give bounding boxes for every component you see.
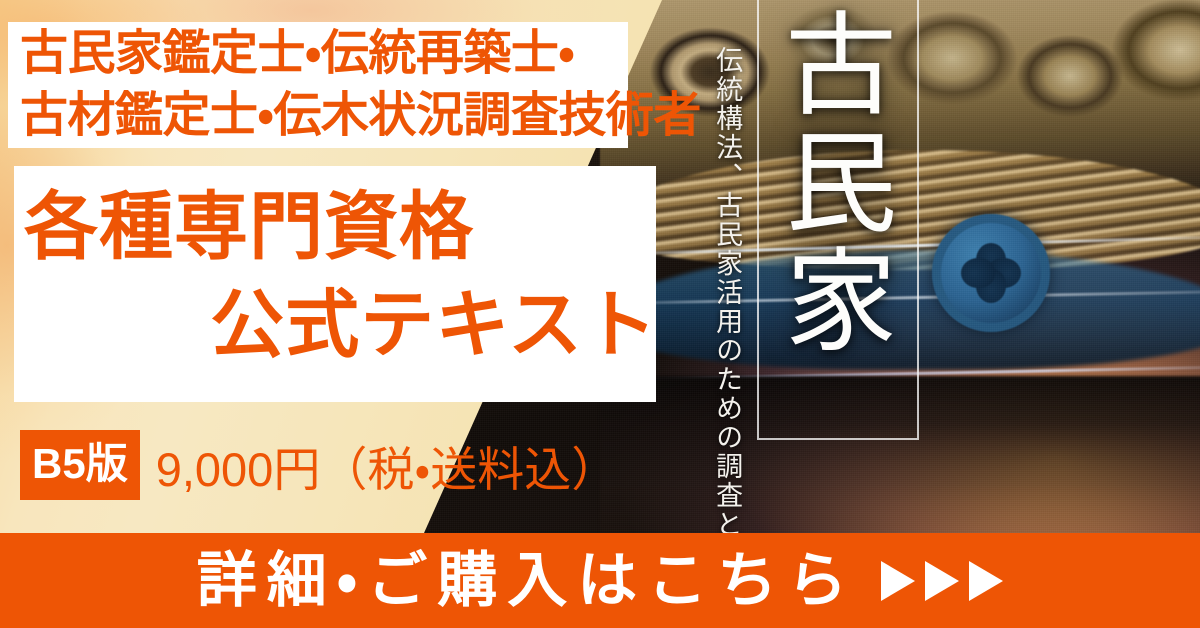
triangle-right-icon xyxy=(881,561,915,601)
photo-shadow-shelf xyxy=(600,376,1200,533)
format-badge: B5版 xyxy=(20,430,140,500)
price-row: B5版 9,000円（税・送料込） xyxy=(20,430,618,500)
cta-arrow-group xyxy=(881,561,1003,601)
cta-label: 詳細・ご購入はこちら xyxy=(197,551,857,611)
family-crest-mon-icon xyxy=(932,214,1050,332)
price-text: 9,000円（税・送料込） xyxy=(156,431,619,500)
triangle-right-icon xyxy=(925,561,959,601)
qualifications-heading-line-2: 古材鑑定士・伝木状況調査技術者 xyxy=(20,85,720,147)
book-cover-vertical-title: 古民家 xyxy=(780,6,900,360)
crest-petal xyxy=(961,258,995,288)
main-title: 各種専門資格 公式テキスト xyxy=(24,178,664,375)
main-title-line-2: 公式テキスト xyxy=(24,276,664,374)
promotional-banner: 古民家 伝統構法、古民家活用のための調査と再生の 古民家鑑定士・伝統再築士・ 古… xyxy=(0,0,1200,628)
cta-bar[interactable]: 詳細・ご購入はこちら xyxy=(0,533,1200,628)
triangle-right-icon xyxy=(969,561,1003,601)
main-title-line-1: 各種専門資格 xyxy=(24,178,664,276)
qualifications-heading-line-1: 古民家鑑定士・伝統再築士・ xyxy=(20,23,720,85)
qualifications-heading: 古民家鑑定士・伝統再築士・ 古材鑑定士・伝木状況調査技術者 xyxy=(20,23,720,147)
